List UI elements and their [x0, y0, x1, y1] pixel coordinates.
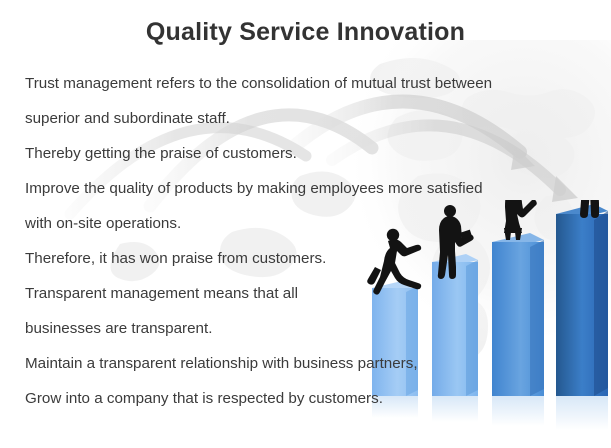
body-line: Thereby getting the praise of customers.	[25, 136, 600, 171]
body-text-block: Trust management refers to the consolida…	[25, 66, 600, 416]
page-title: Quality Service Innovation	[0, 18, 611, 47]
body-line: superior and subordinate staff.	[25, 101, 600, 136]
slide-canvas: Quality Service Innovation Trust managem…	[0, 0, 611, 448]
body-line: Maintain a transparent relationship with…	[25, 346, 600, 381]
body-line: with on-site operations.	[25, 206, 600, 241]
body-line: businesses are transparent.	[25, 311, 600, 346]
body-line: Improve the quality of products by makin…	[25, 171, 600, 206]
body-line: Grow into a company that is respected by…	[25, 381, 600, 416]
body-line: Therefore, it has won praise from custom…	[25, 241, 600, 276]
body-line: Trust management refers to the consolida…	[25, 66, 600, 101]
body-line: Transparent management means that all	[25, 276, 600, 311]
